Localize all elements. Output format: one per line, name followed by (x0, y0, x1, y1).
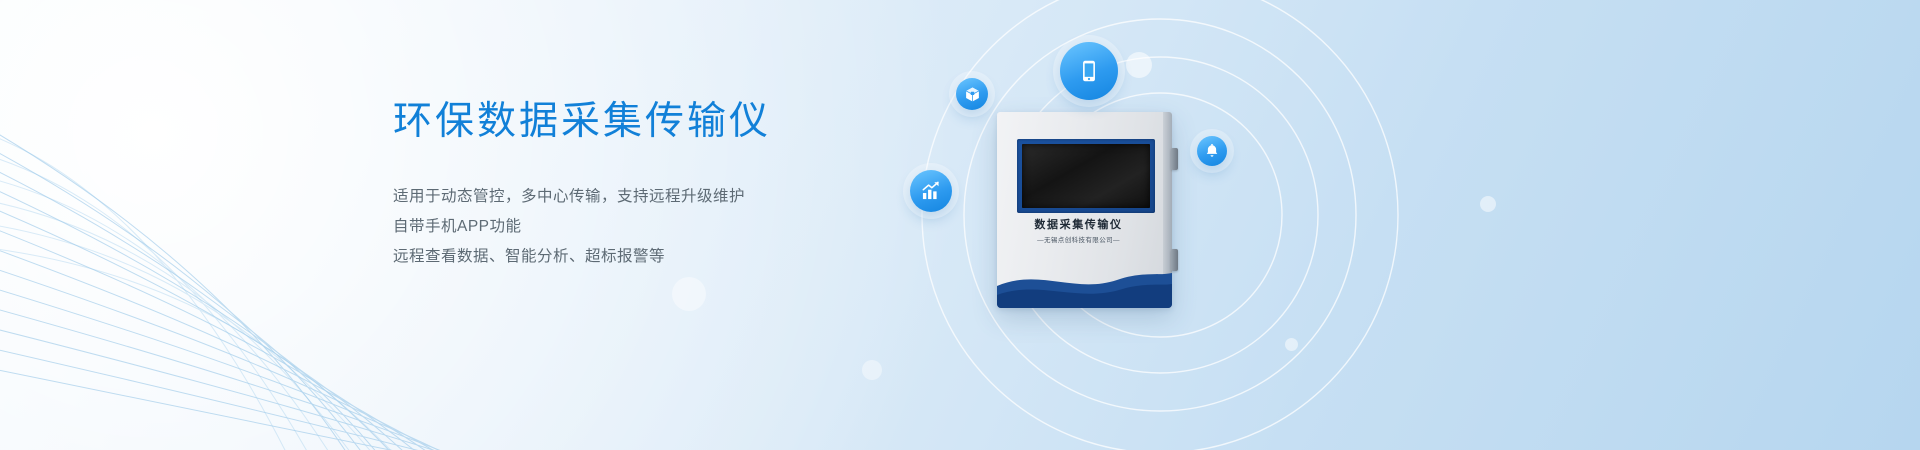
device-screen (1022, 144, 1150, 208)
product-stage: 数据采集传输仪 —无锡点创科技有限公司— (860, 0, 1620, 450)
data-logger-device: 数据采集传输仪 —无锡点创科技有限公司— (997, 112, 1172, 308)
bokeh-circle (672, 277, 706, 311)
alarm-bell-icon[interactable] (1197, 136, 1227, 166)
device-hinge (1171, 148, 1178, 170)
device-brand-label: 数据采集传输仪 (997, 216, 1160, 232)
product-banner: 环保数据采集传输仪 适用于动态管控，多中心传输，支持远程升级维护 自带手机APP… (0, 0, 1920, 450)
cube-box-icon[interactable] (956, 78, 988, 110)
device-cabinet: 数据采集传输仪 —无锡点创科技有限公司— (997, 112, 1172, 308)
mobile-phone-icon[interactable] (1060, 42, 1118, 100)
device-hinge (1171, 249, 1178, 271)
device-footer-wave (997, 264, 1172, 308)
bar-chart-icon[interactable] (910, 170, 952, 212)
device-screen-frame (1017, 139, 1155, 213)
device-company-label: —无锡点创科技有限公司— (997, 234, 1160, 244)
signal-arc-rings (860, 0, 1620, 450)
